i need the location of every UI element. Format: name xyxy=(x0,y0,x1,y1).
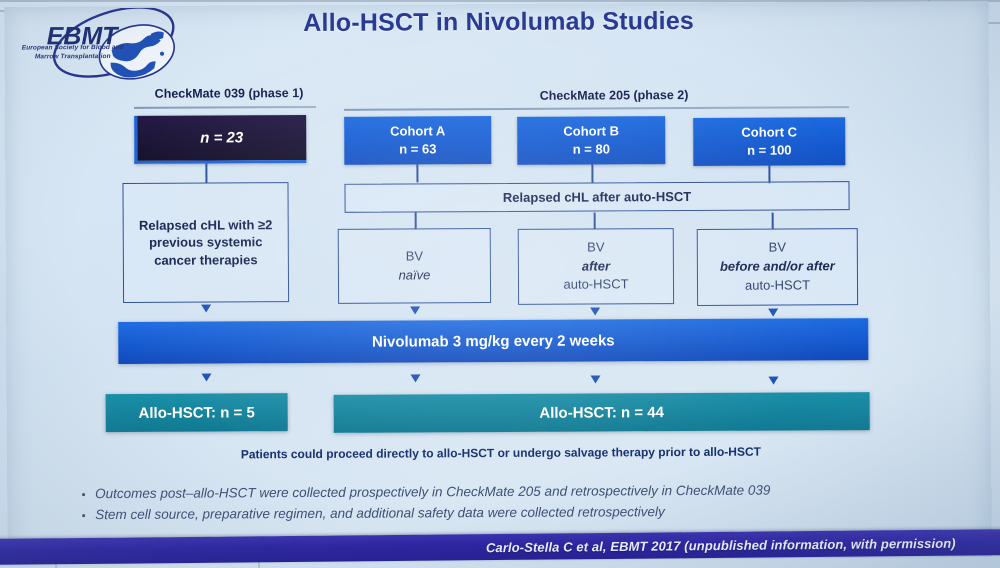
treatment-band: Nivolumab 3 mg/kg every 2 weeks xyxy=(118,318,868,364)
criteria-line-2: previous systemic xyxy=(149,233,263,251)
connector xyxy=(591,165,593,183)
criteria-line-3: cancer therapies xyxy=(154,251,257,269)
bv-emphasis: before and/or after xyxy=(720,257,835,276)
outcome-label-cm039: Allo-HSCT: n = 5 xyxy=(138,404,254,422)
rule-cm039 xyxy=(134,106,316,109)
bullet-item: Stem cell source, preparative regimen, a… xyxy=(79,501,939,526)
cohort-box-c[interactable]: Cohort C n = 100 xyxy=(693,117,845,166)
bv-label: BV xyxy=(769,239,786,258)
criteria-band-label: Relapsed cHL after auto-HSCT xyxy=(503,188,691,207)
study-header-cm039: CheckMate 039 (phase 1) xyxy=(119,86,339,101)
outcome-band-cm205: Allo-HSCT: n = 44 xyxy=(334,392,870,433)
outcome-caption: Patients could proceed directly to allo-… xyxy=(1,443,1000,462)
slide-title: Allo-HSCT in Nivolumab Studies xyxy=(239,7,759,39)
treatment-label: Nivolumab 3 mg/kg every 2 weeks xyxy=(372,332,615,350)
cohort-name-b: Cohort B xyxy=(563,123,619,141)
bv-sublabel: auto-HSCT xyxy=(563,276,628,295)
cohort-name-a: Cohort A xyxy=(390,123,445,141)
arrow-down-icon xyxy=(590,307,600,315)
ebmt-tagline: European Society for Blood and Marrow Tr… xyxy=(13,44,133,62)
bv-box-before-after: BV before and/or after auto-HSCT xyxy=(697,228,858,306)
arrow-down-icon xyxy=(201,374,211,382)
criteria-line-1: Relapsed cHL with ≥2 xyxy=(139,216,272,234)
bullet-list: Outcomes post–allo-HSCT were collected p… xyxy=(79,480,939,526)
study-header-cm205: CheckMate 205 (phase 2) xyxy=(454,88,774,104)
arrow-down-icon xyxy=(410,306,420,314)
bv-box-naive: BV naïve xyxy=(338,228,491,304)
slide-photo: EBMT European Society for Blood and Marr… xyxy=(0,0,1000,568)
criteria-band-cm205: Relapsed cHL after auto-HSCT xyxy=(344,181,849,213)
cohort-n-cm039: n = 23 xyxy=(200,129,243,146)
cohort-n-b: n = 80 xyxy=(573,140,610,158)
connector xyxy=(205,164,207,184)
cohort-box-b[interactable]: Cohort B n = 80 xyxy=(517,116,665,165)
arrow-down-icon xyxy=(768,377,778,385)
cohort-box-cm039[interactable]: n = 23 xyxy=(134,115,306,164)
connector xyxy=(415,212,417,229)
bv-label: BV xyxy=(587,238,604,257)
connector xyxy=(772,213,774,230)
bv-box-after: BV after auto-HSCT xyxy=(518,228,674,305)
ebmt-logo: EBMT European Society for Blood and Marr… xyxy=(9,8,194,83)
cohort-n-a: n = 63 xyxy=(399,140,436,158)
bv-sublabel: auto-HSCT xyxy=(745,276,810,295)
rule-cm205 xyxy=(344,106,849,111)
arrow-down-icon xyxy=(201,305,211,313)
bv-emphasis: naïve xyxy=(398,266,430,285)
cohort-n-c: n = 100 xyxy=(747,141,792,159)
outcome-band-cm039: Allo-HSCT: n = 5 xyxy=(106,393,288,432)
bv-emphasis: after xyxy=(582,257,610,276)
cohort-name-c: Cohort C xyxy=(741,124,797,142)
connector xyxy=(594,213,596,230)
connector xyxy=(416,164,418,182)
arrow-down-icon xyxy=(590,375,600,383)
arrow-down-icon xyxy=(410,374,420,382)
criteria-box-cm039: Relapsed cHL with ≥2 previous systemic c… xyxy=(122,182,289,303)
arrow-down-icon xyxy=(768,309,778,317)
bv-label: BV xyxy=(406,247,423,266)
slide-content: EBMT European Society for Blood and Marr… xyxy=(0,0,1000,568)
cohort-box-a[interactable]: Cohort A n = 63 xyxy=(344,116,491,165)
outcome-label-cm205: Allo-HSCT: n = 44 xyxy=(539,404,664,422)
